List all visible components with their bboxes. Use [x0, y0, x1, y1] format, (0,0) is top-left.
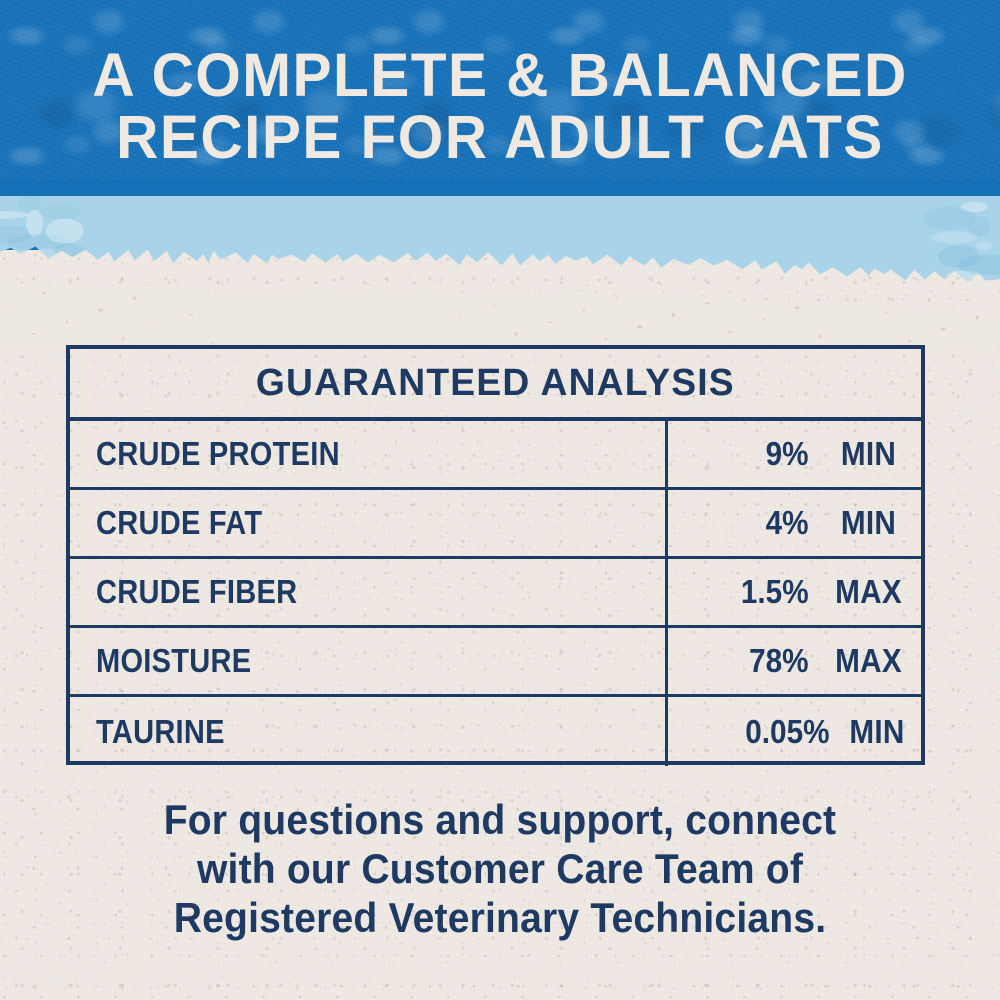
nutrient-qualifier: MAX — [821, 642, 916, 680]
title-line-2: RECIPE FOR ADULT CATS — [20, 106, 980, 168]
nutrient-label: CRUDE FIBER — [96, 573, 297, 611]
product-label-panel: A COMPLETE & BALANCED RECIPE FOR ADULT C… — [0, 0, 1000, 1000]
table-heading-label: GUARANTEED ANALYSIS — [256, 362, 735, 405]
nutrient-value-cell: 78% MAX — [668, 628, 921, 694]
nutrient-amount: 0.05% — [677, 713, 830, 751]
table-row: CRUDE FIBER 1.5% MAX — [70, 559, 921, 628]
nutrient-label-cell: CRUDE FIBER — [70, 559, 668, 625]
table-row: CRUDE PROTEIN 9% MIN — [70, 421, 921, 490]
support-line-1: For questions and support, connect — [35, 795, 965, 844]
nutrient-amount: 78% — [675, 642, 808, 680]
title-line-1: A COMPLETE & BALANCED — [20, 44, 980, 106]
nutrient-label: MOISTURE — [96, 642, 251, 680]
table-row: CRUDE FAT 4% MIN — [70, 490, 921, 559]
support-message: For questions and support, connect with … — [0, 795, 1000, 942]
table-heading-row: GUARANTEED ANALYSIS — [70, 349, 921, 421]
nutrient-value-cell: 0.05% MIN — [668, 697, 921, 766]
nutrient-label: TAURINE — [96, 713, 225, 751]
nutrient-label-cell: CRUDE FAT — [70, 490, 668, 556]
nutrient-qualifier: MIN — [842, 713, 917, 751]
nutrient-amount: 4% — [675, 504, 808, 542]
nutrient-label-cell: TAURINE — [70, 697, 668, 766]
nutrient-label: CRUDE PROTEIN — [96, 435, 340, 473]
nutrient-label-cell: MOISTURE — [70, 628, 668, 694]
support-line-2: with our Customer Care Team of — [35, 844, 965, 893]
table-row: TAURINE 0.05% MIN — [70, 697, 921, 766]
nutrient-value-cell: 1.5% MAX — [668, 559, 921, 625]
nutrient-label-cell: CRUDE PROTEIN — [70, 421, 668, 487]
nutrient-value-cell: 9% MIN — [668, 421, 921, 487]
support-line-3: Registered Veterinary Technicians. — [35, 893, 965, 942]
nutrient-amount: 9% — [675, 435, 808, 473]
table-row: MOISTURE 78% MAX — [70, 628, 921, 697]
page-title: A COMPLETE & BALANCED RECIPE FOR ADULT C… — [0, 44, 1000, 168]
nutrient-value-cell: 4% MIN — [668, 490, 921, 556]
nutrient-qualifier: MIN — [821, 504, 916, 542]
nutrient-qualifier: MAX — [821, 573, 916, 611]
nutrient-label: CRUDE FAT — [96, 504, 262, 542]
nutrient-qualifier: MIN — [821, 435, 916, 473]
guaranteed-analysis-table: GUARANTEED ANALYSIS CRUDE PROTEIN 9% MIN… — [66, 345, 925, 765]
nutrient-amount: 1.5% — [675, 573, 808, 611]
